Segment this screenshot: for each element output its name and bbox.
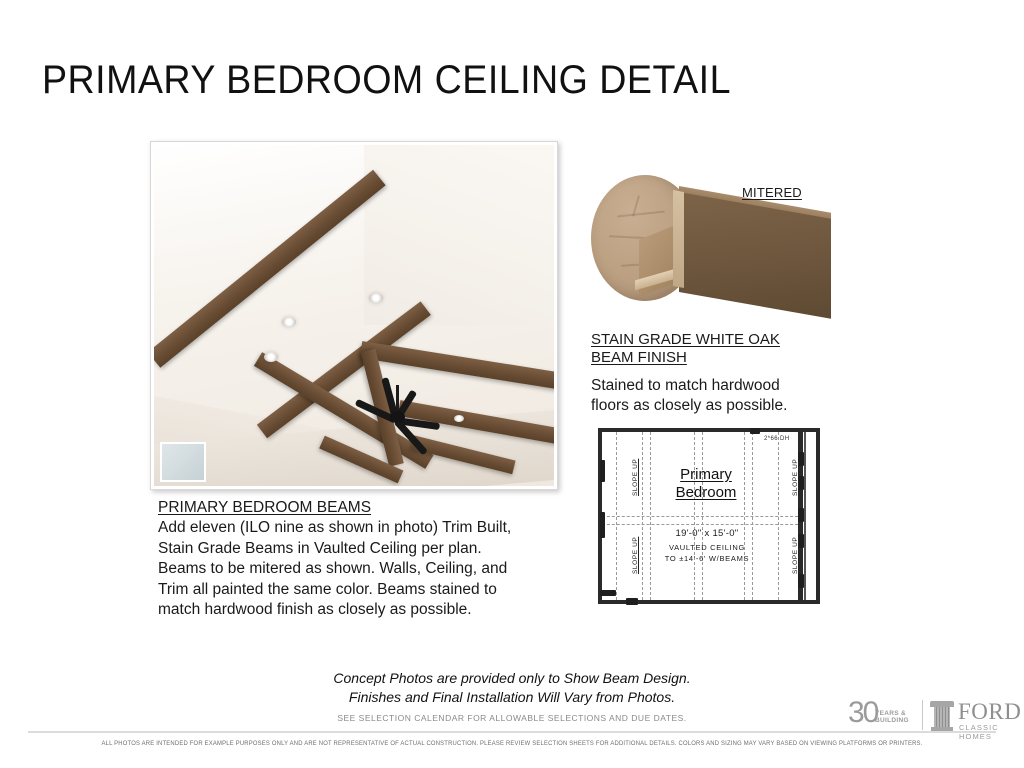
primary-bedroom-beams-caption: PRIMARY BEDROOM BEAMS Add eleven (ILO ni… bbox=[158, 499, 558, 621]
window bbox=[160, 442, 206, 482]
mitered-label: MITERED bbox=[742, 185, 802, 200]
ceiling-fan bbox=[350, 385, 450, 455]
floorplan-ceiling-note: VAULTED CEILING TO ±14'-6' W/BEAMS bbox=[650, 542, 764, 565]
brand-tagline: CLASSIC HOMES bbox=[959, 723, 1000, 741]
miter-joint-edge bbox=[673, 190, 684, 288]
beams-caption-heading: PRIMARY BEDROOM BEAMS bbox=[158, 499, 558, 517]
plan-door bbox=[626, 598, 638, 605]
column-base bbox=[931, 727, 953, 731]
brand-name: FORD bbox=[958, 700, 1021, 723]
floorplan-room-name: Primary Bedroom bbox=[666, 466, 746, 501]
recessed-light-icon bbox=[454, 415, 464, 422]
floorplan-diagram: SLOPE UP SLOPE UP SLOPE UP SLOPE UP Prim… bbox=[588, 424, 831, 608]
company-logo: 30 YEARS & BUILDING FORD CLASSIC HOMES bbox=[848, 698, 1000, 734]
ceiling-fan-hub bbox=[390, 411, 405, 423]
page-title: PRIMARY BEDROOM CEILING DETAIL bbox=[42, 58, 731, 103]
ceiling-photo-image bbox=[154, 145, 554, 486]
slope-up-label: SLOPE UP bbox=[632, 537, 639, 574]
slope-up-label: SLOPE UP bbox=[792, 537, 799, 574]
column-icon bbox=[930, 701, 954, 731]
recessed-light-icon bbox=[282, 317, 296, 327]
anniversary-subtitle: YEARS & BUILDING bbox=[875, 710, 909, 725]
slope-up-label: SLOPE UP bbox=[632, 459, 639, 496]
slope-up-label: SLOPE UP bbox=[792, 459, 799, 496]
recessed-light-icon bbox=[264, 352, 278, 362]
logo-divider bbox=[922, 700, 923, 730]
recessed-light-icon bbox=[369, 293, 383, 303]
ceiling-plane-right bbox=[364, 145, 554, 325]
floorplan-window-label: 2*66 DH bbox=[764, 436, 789, 442]
stain-grade-body: Stained to match hardwood floors as clos… bbox=[591, 376, 831, 416]
anniversary-number: 30 bbox=[848, 698, 877, 728]
floorplan-dimensions: 19'-0" x 15'-0" bbox=[654, 528, 760, 539]
ceiling-photo-frame bbox=[150, 141, 558, 490]
stain-grade-block: STAIN GRADE WHITE OAK BEAM FINISH Staine… bbox=[591, 331, 831, 416]
ridge-line bbox=[602, 524, 798, 525]
plan-wall-thin bbox=[804, 432, 806, 600]
column-shaft bbox=[934, 707, 950, 727]
plan-opening bbox=[798, 574, 804, 588]
plan-opening bbox=[600, 590, 616, 596]
beams-caption-body: Add eleven (ILO nine as shown in photo) … bbox=[158, 518, 558, 621]
plan-opening bbox=[798, 508, 804, 522]
wood-grain-line bbox=[617, 210, 665, 217]
plan-wall bbox=[598, 428, 820, 432]
plan-opening bbox=[600, 460, 605, 482]
plan-window bbox=[750, 428, 760, 434]
ridge-line bbox=[602, 516, 798, 517]
plan-wall bbox=[816, 428, 820, 604]
stain-grade-heading: STAIN GRADE WHITE OAK BEAM FINISH bbox=[591, 331, 831, 368]
plan-opening bbox=[600, 512, 605, 538]
legal-disclaimer: ALL PHOTOS ARE INTENDED FOR EXAMPLE PURP… bbox=[0, 741, 1024, 747]
